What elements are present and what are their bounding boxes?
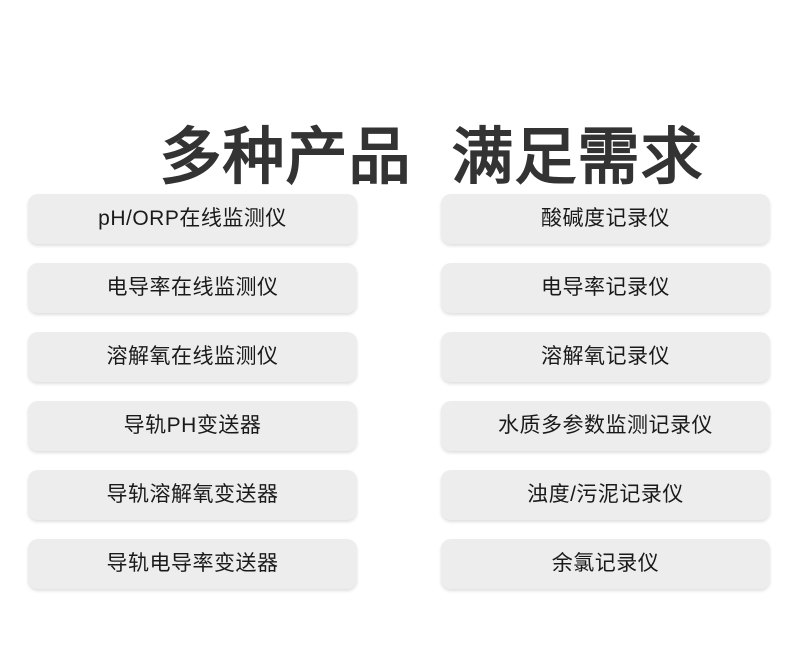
product-button-conductivity-online-monitor[interactable]: 电导率在线监测仪 [28, 263, 357, 313]
product-columns: pH/ORP在线监测仪 电导率在线监测仪 溶解氧在线监测仪 导轨PH变送器 导轨… [28, 194, 770, 589]
product-button-din-rail-ph-transmitter[interactable]: 导轨PH变送器 [28, 401, 357, 451]
product-button-multiparameter-water-quality-recorder[interactable]: 水质多参数监测记录仪 [441, 401, 770, 451]
product-button-label: 溶解氧记录仪 [541, 345, 670, 369]
page-title-part-2: 满足需求 [451, 123, 703, 192]
product-button-label: 水质多参数监测记录仪 [498, 414, 713, 438]
product-button-conductivity-recorder[interactable]: 电导率记录仪 [441, 263, 770, 313]
product-button-ph-recorder[interactable]: 酸碱度记录仪 [441, 194, 770, 244]
product-button-label: 导轨溶解氧变送器 [107, 483, 279, 507]
product-button-label: 浊度/污泥记录仪 [527, 483, 684, 507]
product-button-dissolved-oxygen-recorder[interactable]: 溶解氧记录仪 [441, 332, 770, 382]
product-category-banner: 多种产品满足需求 pH/ORP在线监测仪 电导率在线监测仪 溶解氧在线监测仪 导… [0, 0, 790, 649]
product-button-din-rail-dissolved-oxygen-transmitter[interactable]: 导轨溶解氧变送器 [28, 470, 357, 520]
product-column-right: 酸碱度记录仪 电导率记录仪 溶解氧记录仪 水质多参数监测记录仪 浊度/污泥记录仪… [441, 194, 770, 589]
product-button-label: 酸碱度记录仪 [541, 207, 670, 231]
product-button-label: pH/ORP在线监测仪 [98, 207, 287, 231]
product-button-ph-orp-online-monitor[interactable]: pH/ORP在线监测仪 [28, 194, 357, 244]
product-button-label: 电导率在线监测仪 [107, 276, 279, 300]
product-column-left: pH/ORP在线监测仪 电导率在线监测仪 溶解氧在线监测仪 导轨PH变送器 导轨… [28, 194, 357, 589]
product-button-residual-chlorine-recorder[interactable]: 余氯记录仪 [441, 539, 770, 589]
product-button-label: 余氯记录仪 [552, 552, 660, 576]
product-button-din-rail-conductivity-transmitter[interactable]: 导轨电导率变送器 [28, 539, 357, 589]
product-button-turbidity-sludge-recorder[interactable]: 浊度/污泥记录仪 [441, 470, 770, 520]
page-title-part-1: 多种产品 [159, 123, 411, 192]
product-button-label: 导轨PH变送器 [124, 414, 262, 438]
product-button-label: 电导率记录仪 [541, 276, 670, 300]
product-button-label: 导轨电导率变送器 [107, 552, 279, 576]
product-button-dissolved-oxygen-online-monitor[interactable]: 溶解氧在线监测仪 [28, 332, 357, 382]
product-button-label: 溶解氧在线监测仪 [107, 345, 279, 369]
